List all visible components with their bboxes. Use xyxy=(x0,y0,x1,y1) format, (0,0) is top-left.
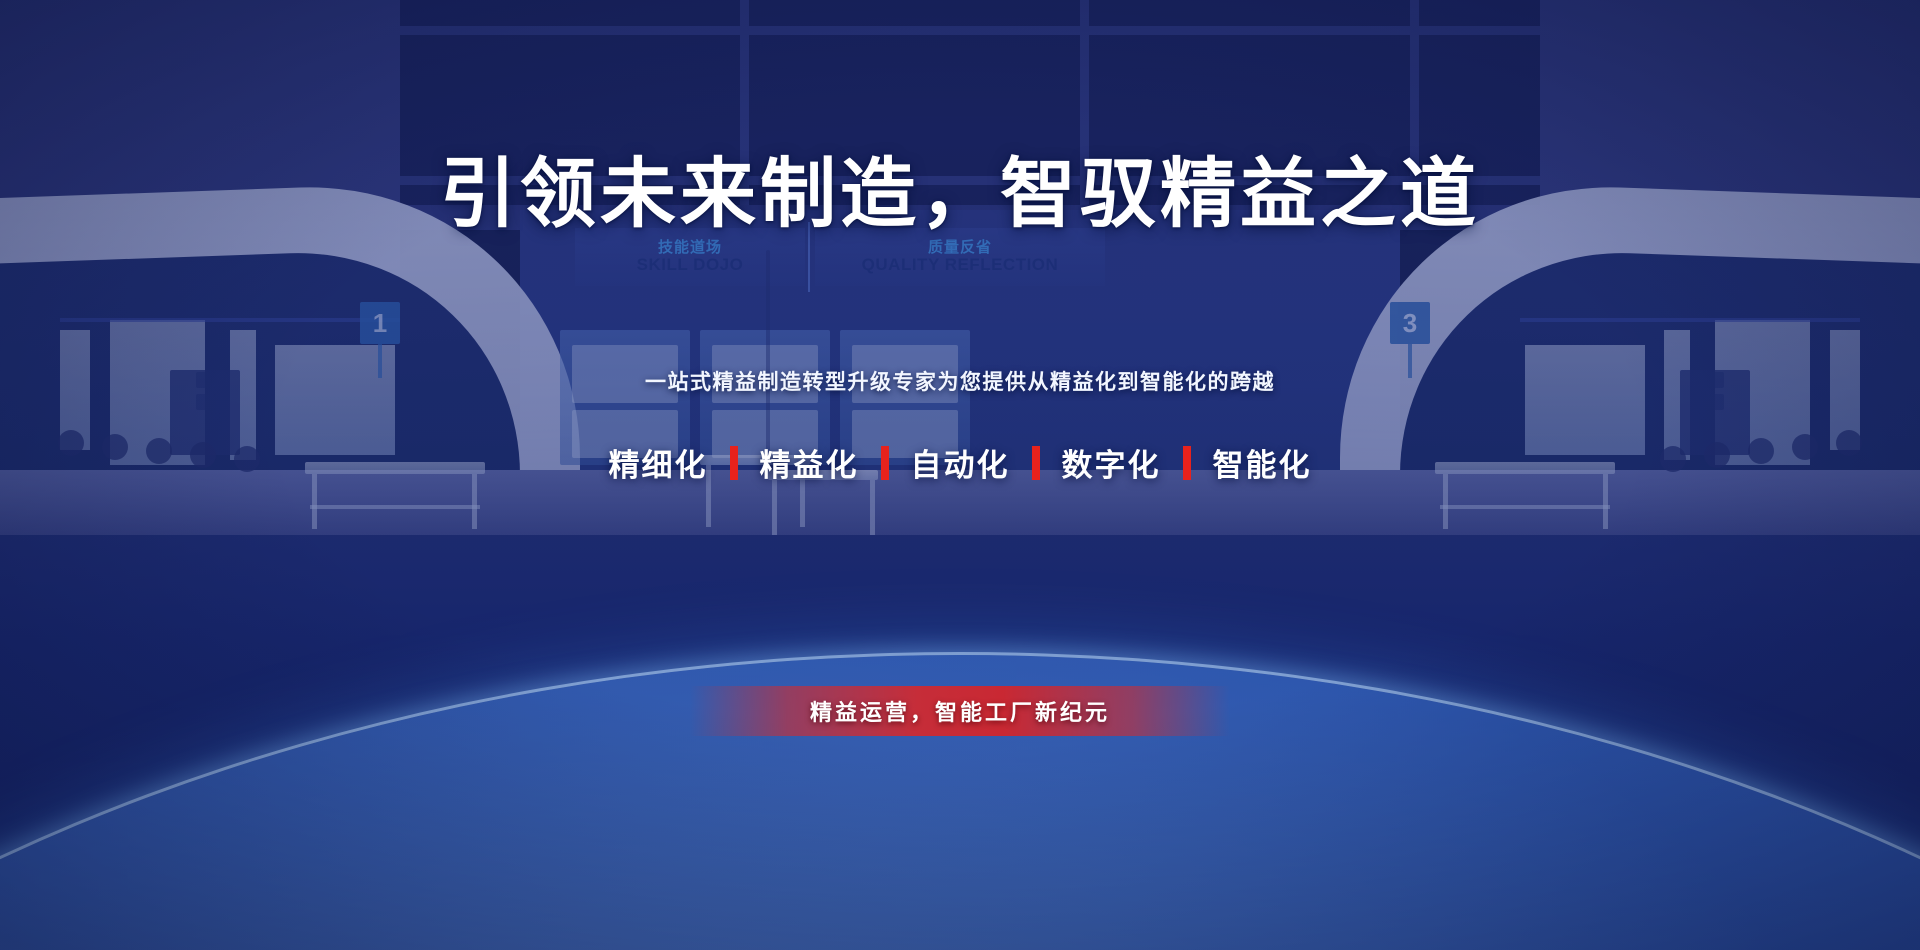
keyword-item: 精细化 xyxy=(587,440,730,485)
keyword-item: 智能化 xyxy=(1191,440,1334,485)
keyword-separator-icon xyxy=(881,446,889,480)
keyword-separator-icon xyxy=(730,446,738,480)
keyword-separator-icon xyxy=(1183,446,1191,480)
keyword-separator-icon xyxy=(1032,446,1040,480)
page-title: 引领未来制造，智驭精益之道 xyxy=(0,132,1920,242)
hero-subtitle: 一站式精益制造转型升级专家为您提供从精益化到智能化的跨越 xyxy=(0,366,1920,396)
hero-banner-stage: 技能道场 SKILL DOJO 质量反省 QUALITY REFLECTION xyxy=(0,0,1920,950)
keyword-item: 数字化 xyxy=(1040,440,1183,485)
keyword-item: 精益化 xyxy=(738,440,881,485)
hero-content: 引领未来制造，智驭精益之道 一站式精益制造转型升级专家为您提供从精益化到智能化的… xyxy=(0,0,1920,950)
tagline-text: 精益运营，智能工厂新纪元 xyxy=(810,695,1110,727)
keyword-item: 自动化 xyxy=(889,440,1032,485)
keyword-list: 精细化 精益化 自动化 数字化 智能化 xyxy=(0,440,1920,485)
tagline-banner: 精益运营，智能工厂新纪元 xyxy=(690,686,1230,736)
